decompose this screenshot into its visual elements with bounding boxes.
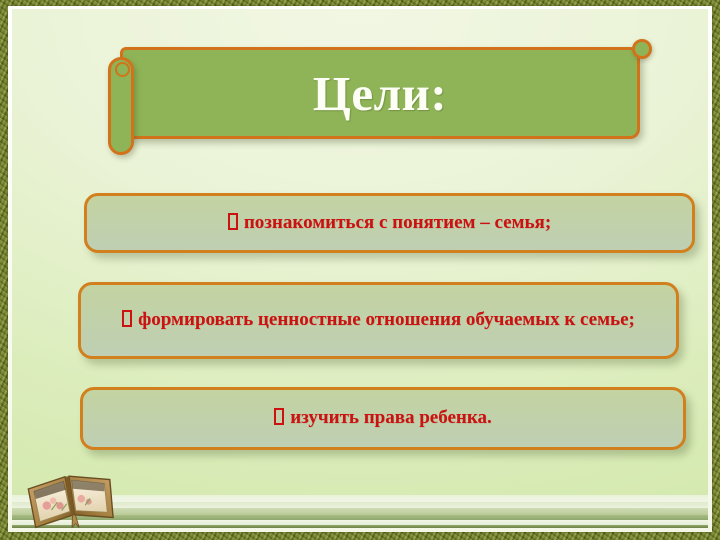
goal-panel-2: формировать ценностные отношения обучаем… (78, 282, 679, 359)
goal-panel-2-label: формировать ценностные отношения обучаем… (138, 309, 635, 330)
scroll-right-curl-icon (632, 39, 652, 59)
tofu-box-bullet-icon (274, 408, 284, 425)
goal-panel-3-label: изучить права ребенка. (290, 407, 492, 428)
goal-panel-3-content: изучить права ребенка. (274, 406, 492, 431)
slide-page-area: Цели: познакомиться с понятием – семья; … (12, 9, 708, 528)
slide-canvas: Цели: познакомиться с понятием – семья; … (0, 0, 720, 540)
page-title: Цели: (313, 69, 447, 118)
open-book-icon (22, 461, 122, 535)
goal-panel-1: познакомиться с понятием – семья; (84, 193, 695, 253)
tofu-box-bullet-icon (122, 310, 132, 327)
goal-panel-3: изучить права ребенка. (80, 387, 686, 450)
goal-panel-1-content: познакомиться с понятием – семья; (228, 211, 551, 236)
footer-band-6 (12, 525, 708, 528)
tofu-box-bullet-icon (228, 213, 238, 230)
title-scroll-banner: Цели: (108, 47, 656, 155)
goal-panel-2-content: формировать ценностные отношения обучаем… (122, 308, 635, 333)
title-banner-body: Цели: (120, 47, 640, 139)
goal-panel-1-label: познакомиться с понятием – семья; (244, 212, 551, 233)
scroll-left-curl-icon (108, 57, 134, 155)
